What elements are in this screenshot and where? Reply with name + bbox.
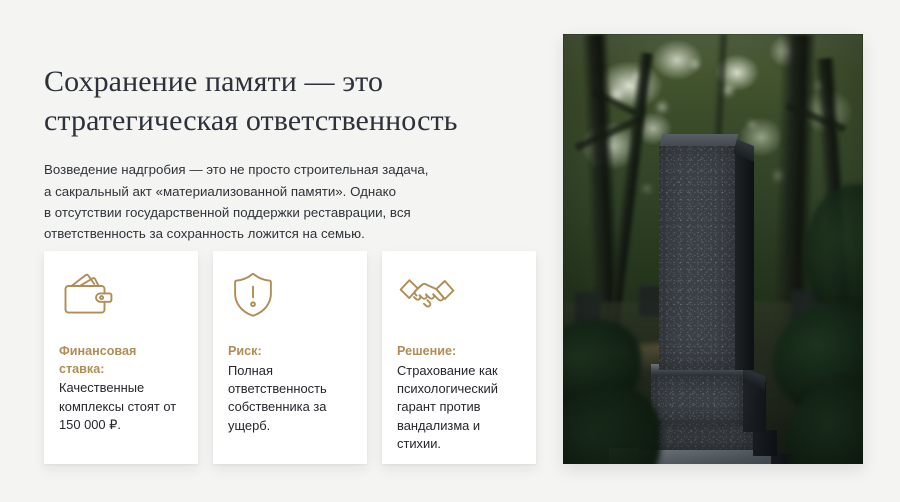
monument-photo [563,34,863,464]
slide-root: Сохранение памяти — это стратегическая о… [0,0,900,502]
feature-card-title: Решение: [397,343,521,361]
background-headstone [639,286,661,316]
page-title-line-1: Сохранение памяти — это [44,62,534,101]
feature-card-body: Полная ответственность собственника за у… [228,362,356,435]
feature-card-risk[interactable]: Риск: Полная ответственность собственник… [213,251,367,464]
monument-step-side [753,430,777,456]
monument-pedestal-side [743,382,766,432]
feature-card-body: Качественные комплексы стоят от 150 000 … [59,379,179,434]
intro-paragraph: Возведение надгробия — это не просто стр… [44,159,514,244]
handshake-icon [397,269,457,321]
intro-paragraph-line-3: в отсутствии государственной поддержки р… [44,202,514,223]
page-title-line-2: стратегическая ответственность [44,101,534,140]
intro-paragraph-line-4: ответственность за сохранность ложится н… [44,223,514,244]
monument-pedestal [651,376,743,426]
monument-photo-inner [563,34,863,464]
foreground-foliage [563,386,661,464]
wallet-icon [59,269,119,321]
shield-alert-icon [228,269,288,321]
feature-card-list: Финансовая ставка: Качественные комплекс… [44,251,536,464]
feature-card-solution[interactable]: Решение: Страхование как психологический… [382,251,536,464]
intro-paragraph-line-1: Возведение надгробия — это не просто стр… [44,159,514,180]
monument-shaft-side [735,152,754,370]
monument-cap [659,134,738,146]
feature-card-title: Финансовая ставка: [59,343,169,378]
feature-card-finance[interactable]: Финансовая ставка: Качественные комплекс… [44,251,198,464]
feature-card-body: Страхование как психологический гарант п… [397,362,523,454]
intro-paragraph-line-2: а сакральный акт «материализованной памя… [44,181,514,202]
left-content-column: Сохранение памяти — это стратегическая о… [44,0,534,502]
page-title: Сохранение памяти — это стратегическая о… [44,62,534,140]
monument-shaft [659,142,735,370]
feature-card-title: Риск: [228,343,352,361]
